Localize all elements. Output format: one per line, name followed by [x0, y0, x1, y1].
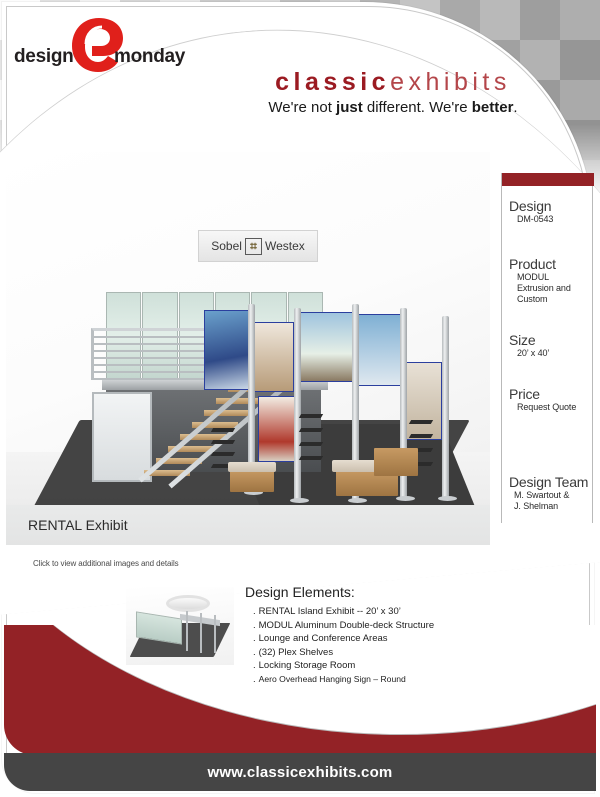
- tower-graphic-panel: [204, 310, 250, 390]
- spec-title: Price: [509, 386, 594, 402]
- hanging-sign-text-right: Westex: [265, 239, 305, 253]
- spec-value: 20’ x 40’: [517, 348, 594, 359]
- hanging-sign-text-left: Sobel: [211, 239, 242, 253]
- spec-item-design: Design DM-0543: [502, 198, 594, 225]
- lounge-bench: [230, 470, 274, 492]
- brand-name-classic: classic: [275, 68, 390, 96]
- spec-item-design-team: Design Team M. Swartout & J. Shelman: [502, 474, 594, 512]
- list-item: .Locking Storage Room: [253, 659, 505, 673]
- tagline-bold-better: better: [472, 99, 514, 116]
- spec-item-size: Size 20’ x 40’: [502, 332, 594, 359]
- spec-value: Request Quote: [517, 402, 594, 413]
- exhibit-thumbnail-image[interactable]: [126, 587, 234, 665]
- spec-title: Size: [509, 332, 594, 348]
- plex-shelf: [211, 428, 235, 432]
- tower-graphic-panel: [358, 314, 402, 386]
- hanging-sign: Sobel ⌗ Westex: [198, 230, 318, 262]
- list-item: .RENTAL Island Exhibit -- 20’ x 30’: [253, 605, 505, 619]
- list-item-label: MODUL Aluminum Double-deck Structure: [259, 620, 434, 631]
- brand-name-exhibits: exhibits: [390, 68, 511, 96]
- spec-title: Design: [509, 198, 594, 214]
- design-elements-list: .RENTAL Island Exhibit -- 20’ x 30’ .MOD…: [253, 605, 505, 686]
- plex-shelf: [299, 414, 323, 418]
- tower-base: [396, 496, 415, 501]
- tagline-bold-just: just: [336, 99, 363, 116]
- list-item: .Lounge and Conference Areas: [253, 632, 505, 646]
- plex-shelf: [299, 442, 323, 446]
- tagline-pre: We're not: [268, 99, 336, 116]
- spec-sidebar-accent-bar: [502, 173, 594, 186]
- exhibit-rendering-image[interactable]: Sobel ⌗ Westex: [6, 152, 490, 544]
- list-item-label: RENTAL Island Exhibit -- 20’ x 30’: [259, 606, 401, 617]
- thumbnail-post: [186, 611, 188, 651]
- click-to-view-link[interactable]: Click to view additional images and deta…: [33, 559, 179, 568]
- tower-base: [290, 498, 309, 503]
- spec-value: DM-0543: [517, 214, 594, 225]
- image-caption-text: RENTAL Exhibit: [28, 517, 128, 533]
- tower-graphic-panel: [252, 322, 294, 392]
- list-item-label: (32) Plex Shelves: [259, 647, 333, 658]
- image-caption-band: RENTAL Exhibit: [6, 505, 490, 545]
- tagline-post: .: [513, 99, 517, 116]
- spec-sidebar: Design DM-0543 Product MODUL Extrusion a…: [501, 173, 593, 523]
- brand-name: classicexhibits: [258, 70, 528, 95]
- stair-step: [216, 398, 262, 404]
- list-item: .MODUL Aluminum Double-deck Structure: [253, 619, 505, 633]
- lounge-bench-cushion: [228, 462, 276, 472]
- classic-exhibits-brand: classicexhibits We're not just different…: [258, 70, 528, 116]
- page-root: www.classicexhibits.com design monday cl…: [0, 0, 600, 797]
- plex-shelf: [409, 420, 433, 424]
- lounge-bench-back: [374, 448, 418, 476]
- design-monday-logo[interactable]: design monday: [14, 18, 184, 70]
- tower-graphic-panel: [258, 396, 298, 462]
- tower-base: [438, 496, 457, 501]
- list-item-label: Locking Storage Room: [259, 660, 356, 671]
- logo-word-design: design: [14, 46, 73, 68]
- sobel-westex-logo-icon: ⌗: [245, 238, 262, 255]
- plex-shelf: [211, 452, 235, 456]
- spec-value: M. Swartout & J. Shelman: [514, 490, 594, 512]
- plex-shelf: [299, 456, 323, 460]
- bullet-icon: .: [253, 674, 256, 685]
- list-item-label: Lounge and Conference Areas: [259, 633, 388, 644]
- plex-shelf: [299, 428, 323, 432]
- bullet-icon: .: [253, 647, 256, 658]
- bullet-icon: .: [253, 660, 256, 671]
- tower-graphic-panel: [296, 312, 356, 382]
- bullet-icon: .: [253, 606, 256, 617]
- list-item: .Aero Overhead Hanging Sign – Round: [253, 673, 505, 687]
- design-elements-section: Design Elements: .RENTAL Island Exhibit …: [245, 584, 505, 686]
- spec-value: MODUL Extrusion and Custom: [517, 272, 594, 305]
- tagline-mid: different. We're: [363, 99, 472, 116]
- design-elements-title: Design Elements:: [245, 584, 505, 600]
- bullet-icon: .: [253, 633, 256, 644]
- spec-item-price: Price Request Quote: [502, 386, 594, 413]
- aero-round-hanging-sign-icon: [166, 595, 210, 612]
- list-item: .(32) Plex Shelves: [253, 646, 505, 660]
- list-item-label: Aero Overhead Hanging Sign – Round: [259, 674, 406, 684]
- footer-website-url[interactable]: www.classicexhibits.com: [208, 764, 393, 781]
- spec-item-product: Product MODUL Extrusion and Custom: [502, 256, 594, 305]
- spec-title: Design Team: [509, 474, 594, 490]
- plex-shelf: [211, 440, 235, 444]
- plex-shelf: [409, 434, 433, 438]
- thumbnail-post: [214, 615, 216, 653]
- tower-post: [442, 316, 449, 498]
- tower-post: [294, 308, 301, 500]
- brand-tagline: We're not just different. We're better.: [258, 99, 528, 116]
- spec-title: Product: [509, 256, 594, 272]
- bullet-icon: .: [253, 620, 256, 631]
- tower-base: [348, 498, 367, 503]
- thumbnail-post: [200, 613, 202, 653]
- footer-bar: www.classicexhibits.com: [4, 753, 596, 791]
- tower-graphic-panel: [404, 362, 442, 440]
- logo-word-monday: monday: [114, 46, 185, 68]
